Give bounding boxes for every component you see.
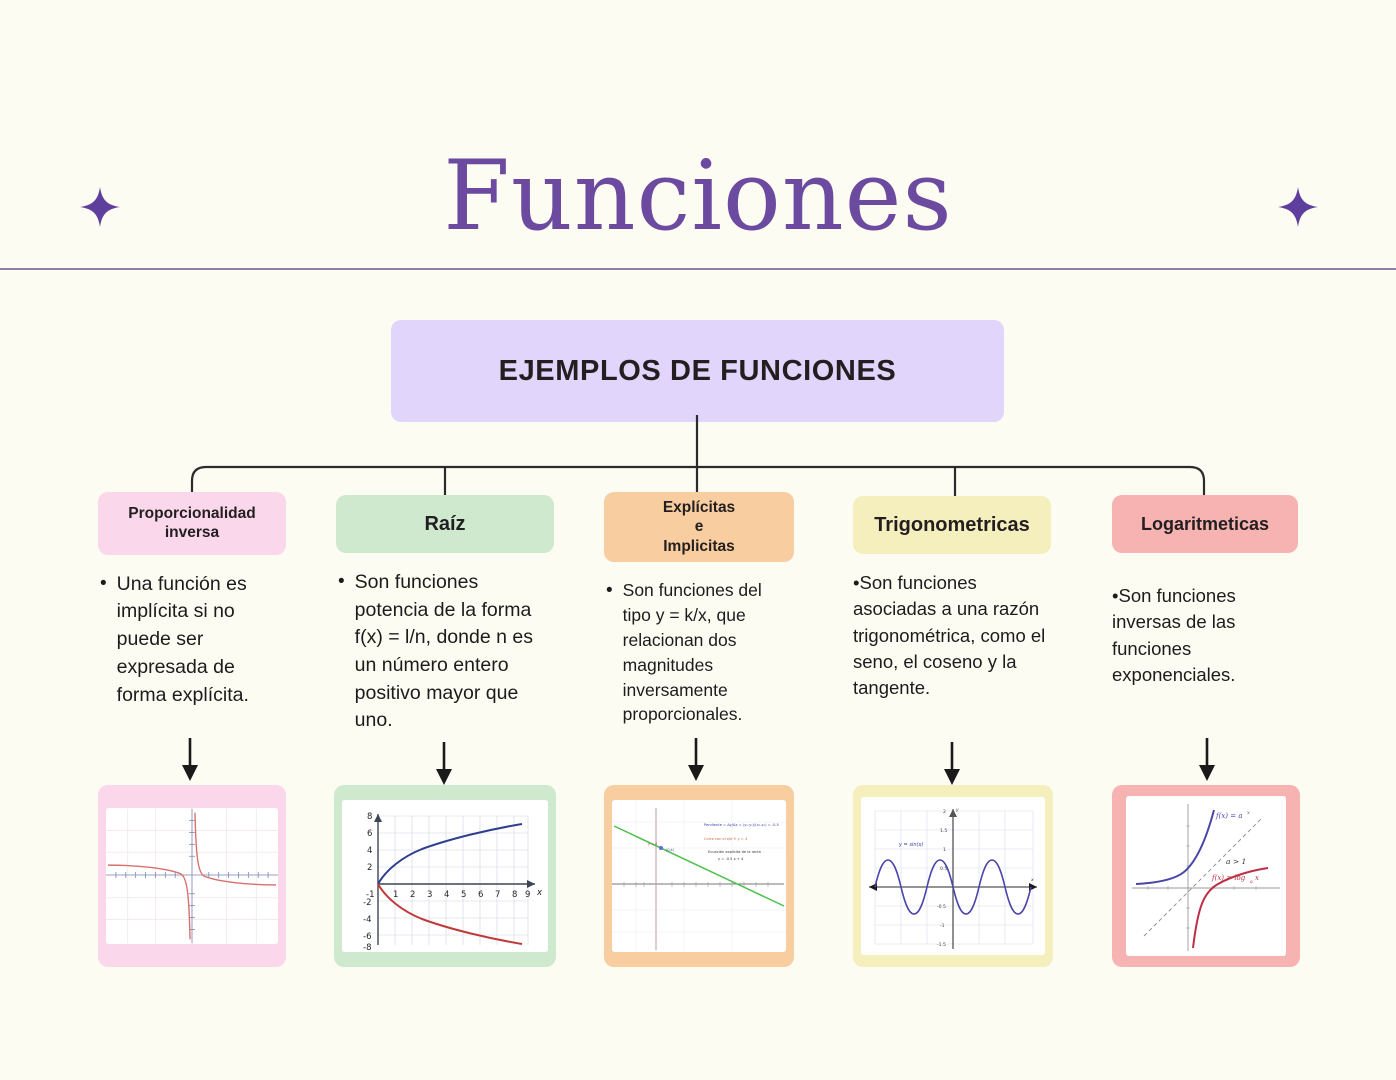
description-logaritmeticas: •Son funciones inversas de las funciones… bbox=[1112, 583, 1298, 688]
heading-line: Implicitas bbox=[663, 537, 735, 556]
svg-text:1.5: 1.5 bbox=[940, 828, 947, 834]
svg-text:4: 4 bbox=[367, 846, 372, 856]
description-text: Son funciones del tipo y = k/x, que rela… bbox=[623, 578, 794, 727]
svg-text:a > 1: a > 1 bbox=[1226, 857, 1246, 866]
svg-text:2: 2 bbox=[943, 809, 946, 815]
bullet-glyph: • bbox=[338, 569, 345, 735]
heading-line: inversa bbox=[165, 523, 219, 542]
description-text: Son funciones potencia de la forma f(x) … bbox=[355, 569, 554, 735]
svg-text:2: 2 bbox=[410, 890, 415, 900]
svg-text:Ecuación explícita de la recta: Ecuación explícita de la recta bbox=[708, 850, 761, 854]
plot-card-exp-log[interactable]: f(x) = a x a > 1 f(x) = log a x bbox=[1112, 785, 1300, 967]
svg-text:(0,4): (0,4) bbox=[666, 848, 675, 852]
svg-text:7: 7 bbox=[495, 890, 500, 900]
svg-text:-4: -4 bbox=[363, 915, 371, 925]
svg-text:6: 6 bbox=[478, 890, 483, 900]
svg-text:x: x bbox=[1030, 878, 1034, 883]
header: Funciones bbox=[0, 0, 1396, 270]
svg-text:a: a bbox=[1250, 880, 1253, 885]
svg-text:x: x bbox=[1247, 810, 1250, 816]
root-node-label: EJEMPLOS DE FUNCIONES bbox=[499, 355, 897, 388]
svg-text:-1.5: -1.5 bbox=[937, 942, 946, 948]
arrow-down-icon bbox=[1195, 738, 1219, 787]
header-divider bbox=[0, 268, 1396, 270]
branch-trigonometricas: Trigonometricas •Son funciones asociadas… bbox=[853, 496, 1051, 701]
branch-logaritmeticas: Logaritmeticas •Son funciones inversas d… bbox=[1112, 495, 1298, 688]
svg-text:8: 8 bbox=[367, 812, 372, 822]
sparkle-four-point-icon bbox=[1276, 185, 1320, 229]
category-heading-trigonometricas[interactable]: Trigonometricas bbox=[853, 496, 1051, 554]
arrow-down-icon bbox=[684, 738, 708, 787]
svg-text:0.5: 0.5 bbox=[940, 866, 947, 872]
plot-card-hyperbola[interactable] bbox=[98, 785, 286, 967]
svg-text:y: y bbox=[955, 808, 959, 813]
page-title: Funciones bbox=[0, 146, 1396, 247]
description-raiz: • Son funciones potencia de la forma f(x… bbox=[336, 569, 554, 735]
sine-plot: y = sin(x) 21.51 0.5-0.5-1 -1.5 y x bbox=[861, 797, 1045, 955]
svg-text:5: 5 bbox=[461, 890, 466, 900]
svg-text:8: 8 bbox=[512, 890, 517, 900]
arrow-down-icon bbox=[940, 742, 964, 791]
arrow-down-icon bbox=[178, 738, 202, 787]
svg-text:-0.5: -0.5 bbox=[937, 904, 946, 910]
branch-proporcionalidad-inversa: Proporcionalidad inversa • Una función e… bbox=[98, 492, 286, 709]
heading-line: Explícitas bbox=[663, 498, 735, 517]
svg-text:4: 4 bbox=[444, 890, 449, 900]
svg-text:1: 1 bbox=[943, 847, 946, 853]
category-heading-proporcionalidad-inversa[interactable]: Proporcionalidad inversa bbox=[98, 492, 286, 555]
svg-text:x: x bbox=[1255, 874, 1259, 882]
heading-line: Raíz bbox=[424, 512, 465, 537]
heading-line: Trigonometricas bbox=[874, 513, 1030, 538]
linear-slope-plot: Pendiente = Δy/Δx = (y₂-y₁)/(x₂-x₁) = -0… bbox=[612, 800, 786, 952]
exp-log-plot: f(x) = a x a > 1 f(x) = log a x bbox=[1126, 796, 1286, 956]
svg-text:f(x) = a: f(x) = a bbox=[1215, 812, 1243, 820]
svg-text:y = 4: y = 4 bbox=[648, 842, 657, 846]
hyperbola-plot bbox=[106, 808, 278, 944]
description-trigonometricas: •Son funciones asociadas a una razón tri… bbox=[853, 570, 1063, 701]
svg-text:-6: -6 bbox=[363, 932, 371, 942]
plot-card-sine[interactable]: y = sin(x) 21.51 0.5-0.5-1 -1.5 y x bbox=[853, 785, 1053, 967]
svg-text:f(x) = log: f(x) = log bbox=[1211, 874, 1246, 882]
description-explicitas-e-implicitas: • Son funciones del tipo y = k/x, que re… bbox=[604, 578, 794, 727]
branch-explicitas-e-implicitas: Explícitas e Implicitas • Son funciones … bbox=[604, 492, 794, 727]
description-text: Una función es implícita si no puede ser… bbox=[117, 571, 286, 709]
heading-line: Proporcionalidad bbox=[128, 504, 255, 523]
svg-text:-8: -8 bbox=[363, 943, 371, 952]
svg-text:2: 2 bbox=[367, 863, 372, 873]
plot-card-linear-slope[interactable]: Pendiente = Δy/Δx = (y₂-y₁)/(x₂-x₁) = -0… bbox=[604, 785, 794, 967]
arrow-down-icon bbox=[432, 742, 456, 791]
category-heading-logaritmeticas[interactable]: Logaritmeticas bbox=[1112, 495, 1298, 553]
svg-text:y = -0.5 x + 4: y = -0.5 x + 4 bbox=[718, 857, 744, 861]
description-proporcionalidad-inversa: • Una función es implícita si no puede s… bbox=[98, 571, 286, 709]
infographic-page: Funciones EJEMPLOS DE FUNCIONES Proporci… bbox=[0, 0, 1396, 1080]
svg-text:Pendiente = Δy/Δx = (y₂-y₁)/(x: Pendiente = Δy/Δx = (y₂-y₁)/(x₂-x₁) = -0… bbox=[704, 823, 779, 827]
svg-text:Corte con el eje Y: y = 4: Corte con el eje Y: y = 4 bbox=[704, 837, 748, 841]
svg-text:6: 6 bbox=[367, 829, 372, 839]
root-node[interactable]: EJEMPLOS DE FUNCIONES bbox=[391, 320, 1004, 422]
heading-line: e bbox=[695, 517, 704, 536]
heading-line: Logaritmeticas bbox=[1141, 513, 1269, 536]
category-heading-raiz[interactable]: Raíz bbox=[336, 495, 554, 553]
svg-text:1: 1 bbox=[393, 890, 398, 900]
square-root-plot: -112 345 678 9 864 2-2-4 -6-8 x bbox=[342, 800, 548, 952]
bullet-glyph: • bbox=[606, 578, 613, 727]
svg-text:y = sin(x): y = sin(x) bbox=[898, 842, 923, 848]
svg-text:x: x bbox=[536, 888, 543, 898]
plot-card-square-root[interactable]: -112 345 678 9 864 2-2-4 -6-8 x bbox=[334, 785, 556, 967]
svg-text:-2: -2 bbox=[363, 898, 371, 908]
svg-text:9: 9 bbox=[525, 890, 530, 900]
svg-text:-1: -1 bbox=[940, 923, 945, 929]
svg-text:3: 3 bbox=[427, 890, 432, 900]
category-heading-explicitas-e-implicitas[interactable]: Explícitas e Implicitas bbox=[604, 492, 794, 562]
bullet-glyph: • bbox=[100, 571, 107, 709]
branch-raiz: Raíz • Son funciones potencia de la form… bbox=[336, 495, 554, 735]
